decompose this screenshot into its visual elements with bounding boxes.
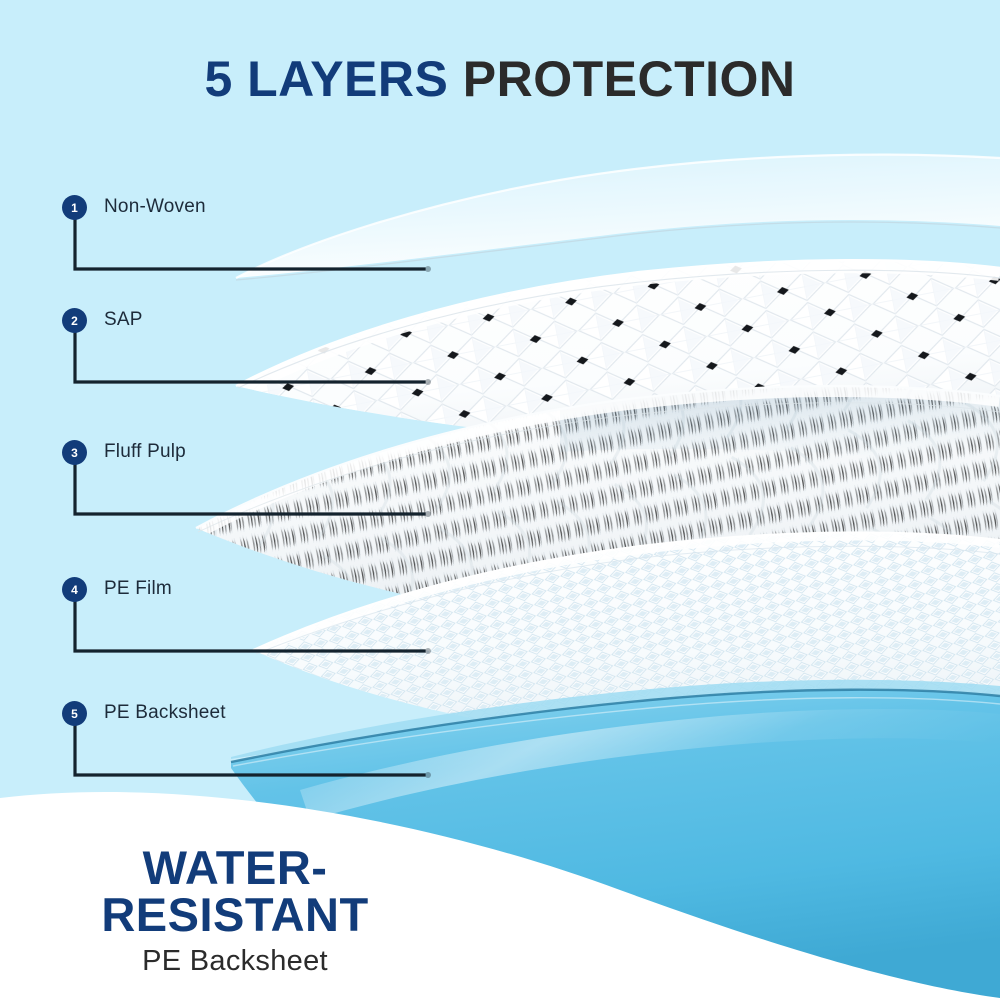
- footer-subline: PE Backsheet: [0, 945, 470, 978]
- footer-headline: WATER- RESISTANT: [0, 844, 470, 938]
- badge-1-number: 1: [71, 202, 78, 214]
- callout-label-pe-film: PE Film: [104, 578, 172, 600]
- footer-headline-line-2: RESISTANT: [0, 891, 470, 938]
- leader-line-3: [72, 462, 437, 532]
- callout-label-pe-backsheet: PE Backsheet: [104, 702, 226, 724]
- badge-4-number: 4: [71, 584, 78, 596]
- leader-line-4: [72, 599, 437, 669]
- badge-2-number: 2: [71, 315, 78, 327]
- leader-line-2: [72, 330, 437, 400]
- footer-text-block: WATER- RESISTANT PE Backsheet: [0, 844, 470, 978]
- badge-1: 1: [62, 195, 87, 220]
- badge-5: 5: [62, 701, 87, 726]
- badge-5-number: 5: [71, 708, 78, 720]
- callout-label-non-woven: Non-Woven: [104, 196, 206, 218]
- leader-line-5: [72, 723, 437, 793]
- leader-line-1: [72, 217, 437, 287]
- infographic-canvas: 5 LAYERS PROTECTION: [0, 0, 1000, 1000]
- badge-3-number: 3: [71, 447, 78, 459]
- badge-3: 3: [62, 440, 87, 465]
- footer-headline-line-1: WATER-: [0, 844, 470, 891]
- callout-label-fluff-pulp: Fluff Pulp: [104, 441, 186, 463]
- badge-2: 2: [62, 308, 87, 333]
- callout-label-sap: SAP: [104, 309, 143, 331]
- badge-4: 4: [62, 577, 87, 602]
